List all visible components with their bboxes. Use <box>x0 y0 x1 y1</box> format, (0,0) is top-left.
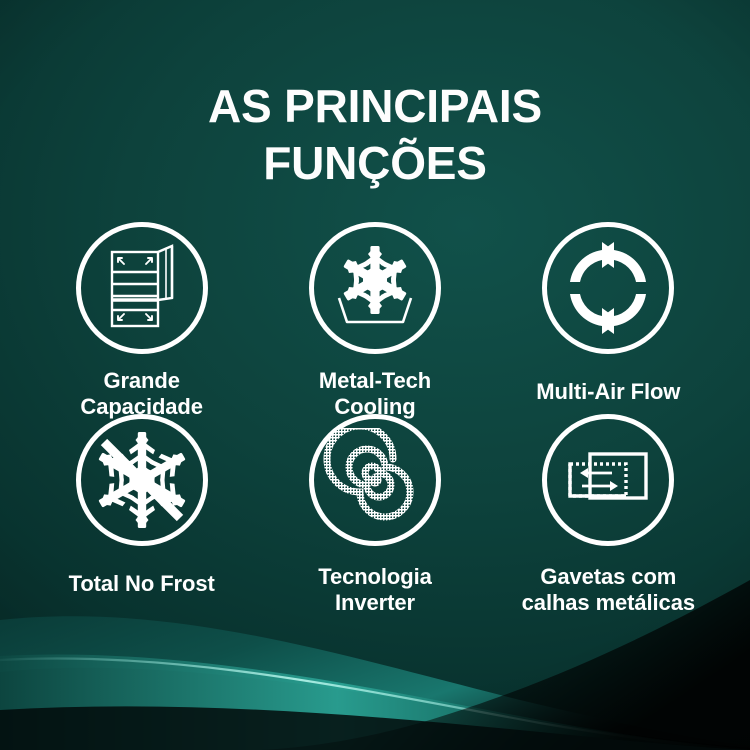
feature-grid: Grande Capacidade <box>25 222 725 614</box>
feature-icon-circle <box>309 414 441 546</box>
feature-icon-circle <box>542 414 674 546</box>
no-frost-snowflake-icon <box>86 424 198 536</box>
feature-label: Tecnologia Inverter <box>318 564 432 615</box>
sliding-drawer-rails-icon <box>556 428 660 532</box>
title-line-2: FUNÇÕES <box>0 135 750 192</box>
feature-item-grande-capacidade: Grande Capacidade <box>25 222 258 414</box>
circulating-arrows-icon <box>556 236 660 340</box>
feature-label: Grande Capacidade <box>80 368 203 419</box>
feature-icon-circle <box>76 222 208 354</box>
feature-label: Gavetas com calhas metálicas <box>522 564 695 615</box>
feature-icon-circle <box>309 222 441 354</box>
snowflake-panel-icon <box>323 236 427 340</box>
feature-label: Metal-Tech Cooling <box>319 368 431 419</box>
feature-item-metal-tech-cooling: Metal-Tech Cooling <box>258 222 491 414</box>
page-title: AS PRINCIPAIS FUNÇÕES <box>0 78 750 192</box>
title-line-1: AS PRINCIPAIS <box>0 78 750 135</box>
feature-icon-circle <box>542 222 674 354</box>
feature-label: Total No Frost <box>69 571 215 597</box>
feature-label: Multi-Air Flow <box>536 379 680 405</box>
feature-icon-circle <box>76 414 208 546</box>
refrigerator-capacity-icon <box>90 236 194 340</box>
spiral-vortex-icon <box>323 428 427 532</box>
feature-item-total-no-frost: Total No Frost <box>25 414 258 614</box>
feature-item-gavetas-calhas-metalicas: Gavetas com calhas metálicas <box>492 414 725 614</box>
feature-highlight-graphic: AS PRINCIPAIS FUNÇÕES <box>0 0 750 750</box>
feature-item-tecnologia-inverter: Tecnologia Inverter <box>258 414 491 614</box>
feature-item-multi-air-flow: Multi-Air Flow <box>492 222 725 414</box>
